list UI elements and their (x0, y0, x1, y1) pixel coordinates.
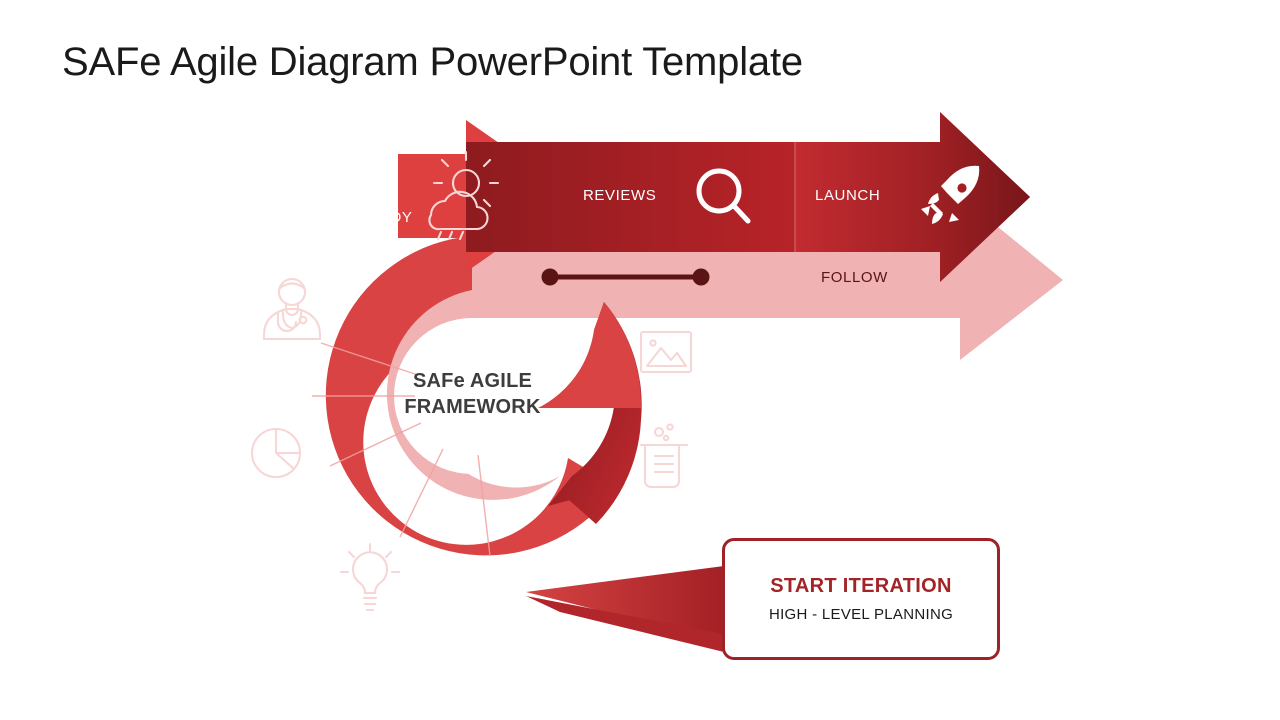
slide-canvas: SAFe Agile Diagram PowerPoint Template (0, 0, 1280, 720)
callout-title: START ITERATION (770, 575, 952, 598)
center-framework-label: SAFe AGILE FRAMEWORK (375, 368, 570, 421)
start-iteration-callout[interactable]: START ITERATION HIGH - LEVEL PLANNING (722, 538, 1000, 660)
center-line-2: FRAMEWORK (375, 394, 570, 420)
pie-chart-icon (252, 429, 300, 477)
doctor-stethoscope-icon (264, 279, 320, 339)
callout-subtitle: HIGH - LEVEL PLANNING (769, 606, 953, 623)
safe-agile-diagram: DEPLOY TEST DEVELOP DESIGN PLAN REVIEWS … (0, 0, 1280, 720)
diagram-graphics (0, 0, 1280, 720)
callout-connector (526, 566, 724, 652)
beaker-bubbles-icon (641, 424, 687, 487)
start-marker-dot-icon (506, 579, 536, 609)
lightbulb-icon (341, 544, 399, 610)
center-line-1: SAFe AGILE (375, 368, 570, 394)
image-frame-icon (641, 332, 691, 372)
